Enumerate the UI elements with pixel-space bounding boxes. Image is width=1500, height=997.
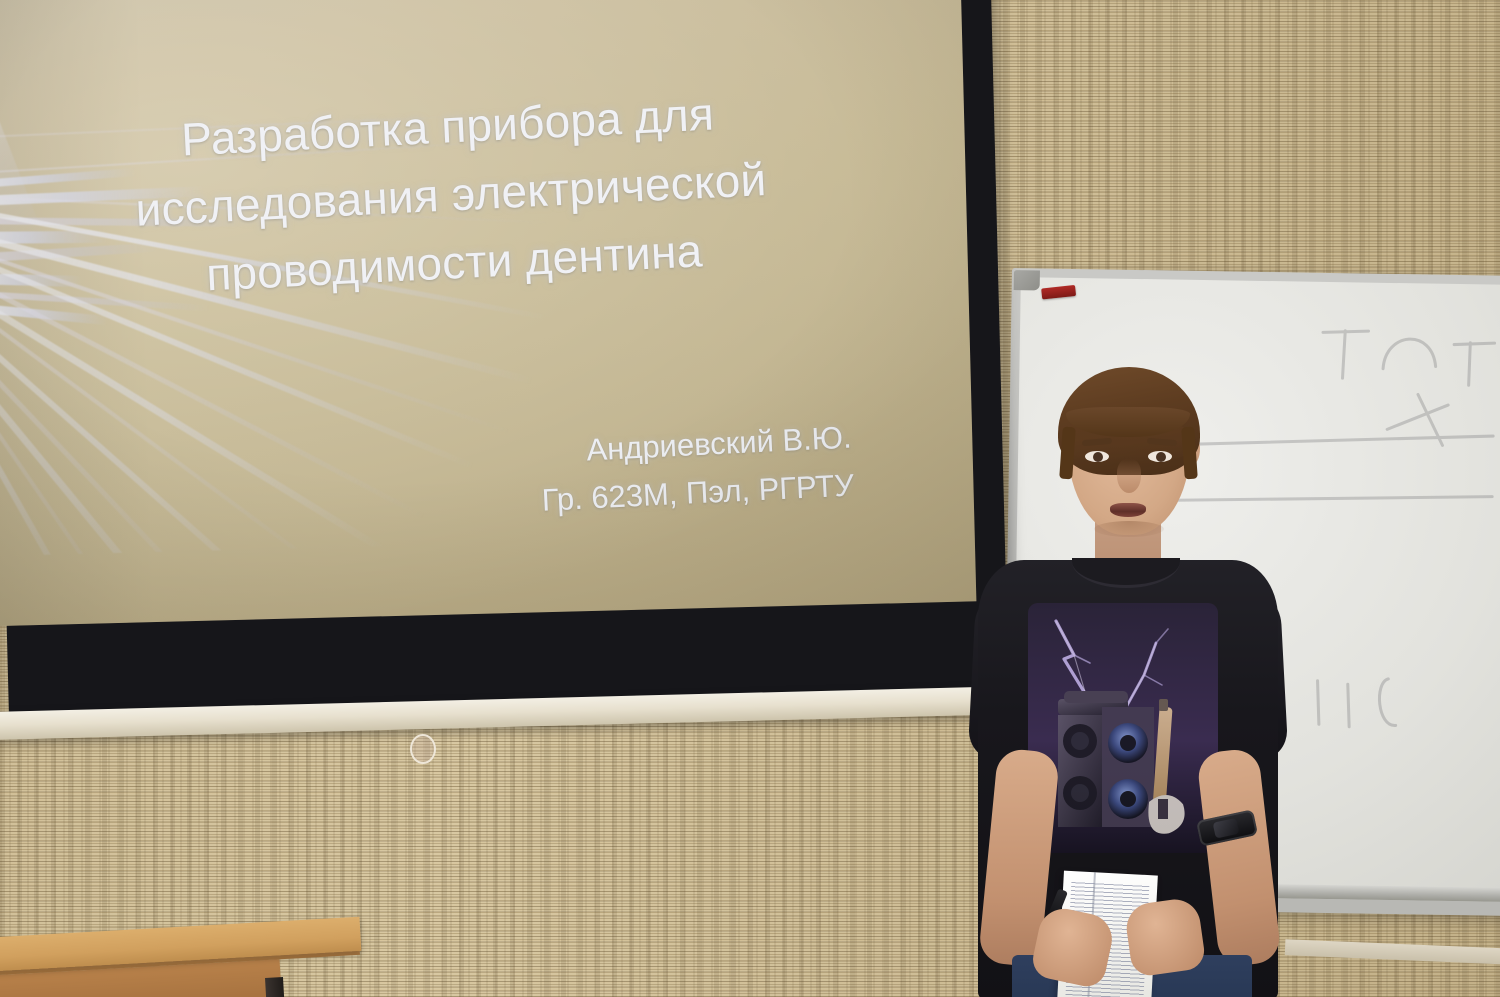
chin-shadow — [1094, 521, 1164, 537]
desk-leg — [265, 977, 286, 997]
projector-screen: Разработка прибора для исследования элек… — [0, 0, 990, 776]
eye-right — [1148, 451, 1172, 462]
mouth — [1110, 503, 1146, 517]
whiteboard-corner-bracket — [1014, 270, 1040, 290]
projector-screen-surface: Разработка прибора для исследования элек… — [0, 0, 976, 627]
classroom-presentation-photo: Разработка прибора для исследования элек… — [0, 0, 1500, 997]
presenter-person — [960, 355, 1360, 997]
t-shirt-graphic — [1028, 603, 1218, 853]
slide-title: Разработка прибора для исследования элек… — [51, 73, 850, 316]
hand-right — [1123, 896, 1206, 978]
nose — [1117, 459, 1141, 493]
desk — [0, 930, 360, 997]
projector-screen-pull-ring[interactable] — [410, 734, 437, 765]
slide-author-block: Андриевский В.Ю. Гр. 623М, Пэл, РГРТУ — [271, 414, 855, 538]
projector-screen-frame: Разработка прибора для исследования элек… — [0, 0, 1009, 726]
eye-left — [1085, 451, 1109, 462]
